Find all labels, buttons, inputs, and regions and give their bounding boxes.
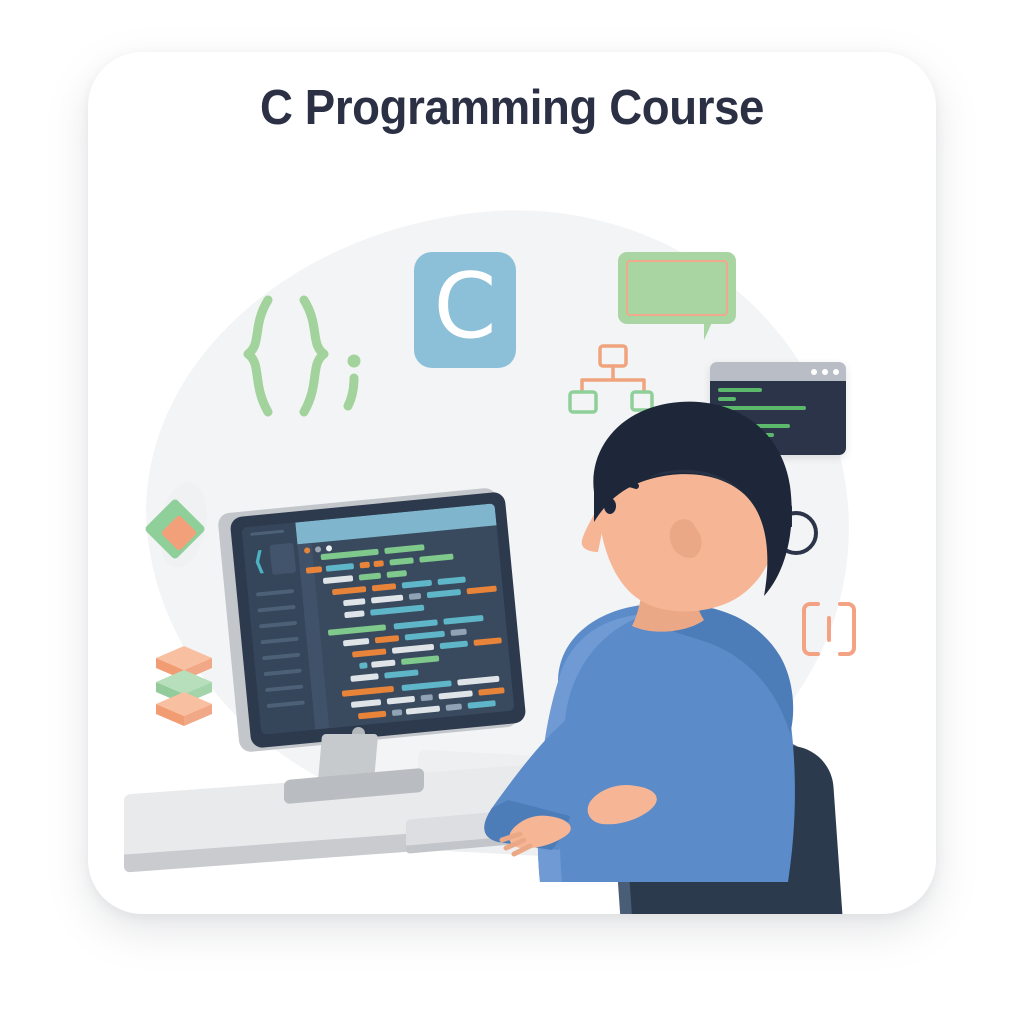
terminal-dot — [822, 369, 828, 375]
course-card: C Programming Course C — [88, 52, 936, 914]
terminal-dot — [833, 369, 839, 375]
illustration-canvas: C Programming Course C — [0, 0, 1024, 1024]
terminal-titlebar — [710, 362, 846, 381]
speech-bubble-inner-border — [626, 260, 728, 316]
terminal-dot — [811, 369, 817, 375]
page-title: C Programming Course — [118, 80, 907, 136]
c-badge-letter: C — [434, 262, 497, 352]
desk-scene: ⟨ — [88, 382, 936, 914]
programmer-figure — [88, 382, 936, 914]
speech-bubble-body — [618, 252, 736, 324]
c-language-badge: C — [414, 252, 516, 368]
speech-bubble-icon — [618, 252, 736, 342]
